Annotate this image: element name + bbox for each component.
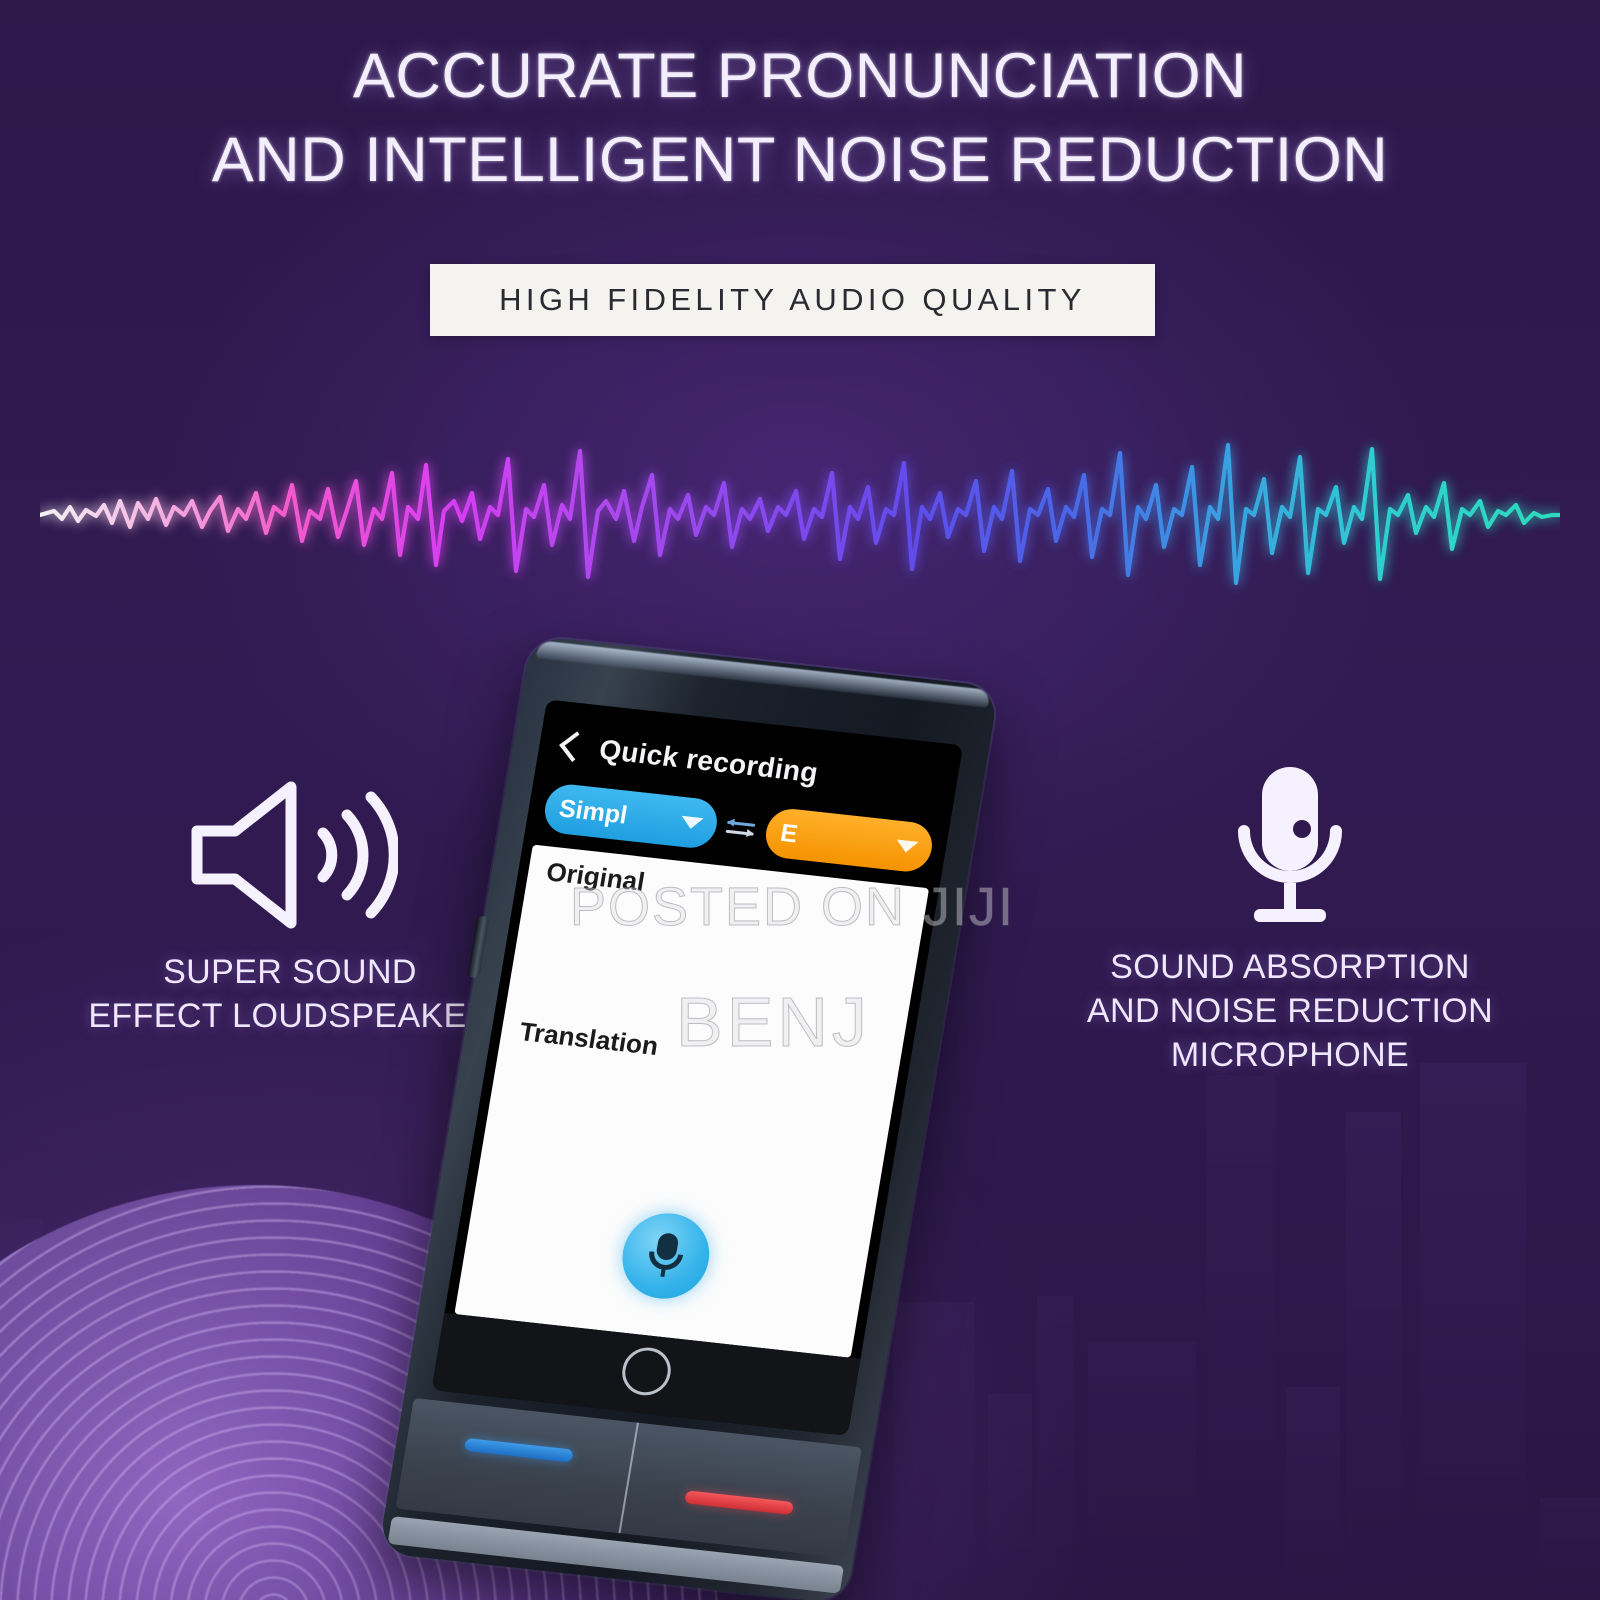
- audio-waveform: [40, 415, 1560, 615]
- promo-banner: ACCURATE PRONUNCIATION AND INTELLIGENT N…: [0, 0, 1600, 1600]
- chevron-down-icon: [895, 840, 919, 854]
- subtitle-banner-label: HIGH FIDELITY AUDIO QUALITY: [499, 282, 1086, 318]
- handheld-translator: Quick recording Simpl E Original Tran: [378, 635, 999, 1600]
- device-photo: Quick recording Simpl E Original Tran: [455, 620, 1135, 1600]
- original-text-label: Original: [544, 856, 647, 897]
- home-button[interactable]: [619, 1345, 675, 1398]
- subtitle-banner: HIGH FIDELITY AUDIO QUALITY: [430, 264, 1155, 336]
- target-language-label: E: [778, 818, 799, 848]
- back-chevron-icon[interactable]: [559, 731, 590, 762]
- swap-languages-icon[interactable]: [722, 812, 761, 845]
- translation-text-label: Translation: [517, 1016, 660, 1062]
- red-key-indicator: [684, 1490, 794, 1515]
- feature-loudspeaker-caption: SUPER SOUND EFFECT LOUDSPEAKER: [70, 950, 510, 1038]
- blue-key-indicator: [464, 1438, 574, 1463]
- microphone-record-icon: [641, 1231, 690, 1281]
- page-title: ACCURATE PRONUNCIATION AND INTELLIGENT N…: [0, 34, 1600, 202]
- feature-loudspeaker: SUPER SOUND EFFECT LOUDSPEAKER: [70, 760, 510, 1038]
- loudspeaker-icon: [70, 760, 510, 950]
- source-language-label: Simpl: [557, 794, 630, 830]
- chevron-down-icon: [680, 816, 704, 830]
- transcript-sheet: Original Translation: [454, 845, 929, 1358]
- microphone-record-button[interactable]: [616, 1209, 716, 1303]
